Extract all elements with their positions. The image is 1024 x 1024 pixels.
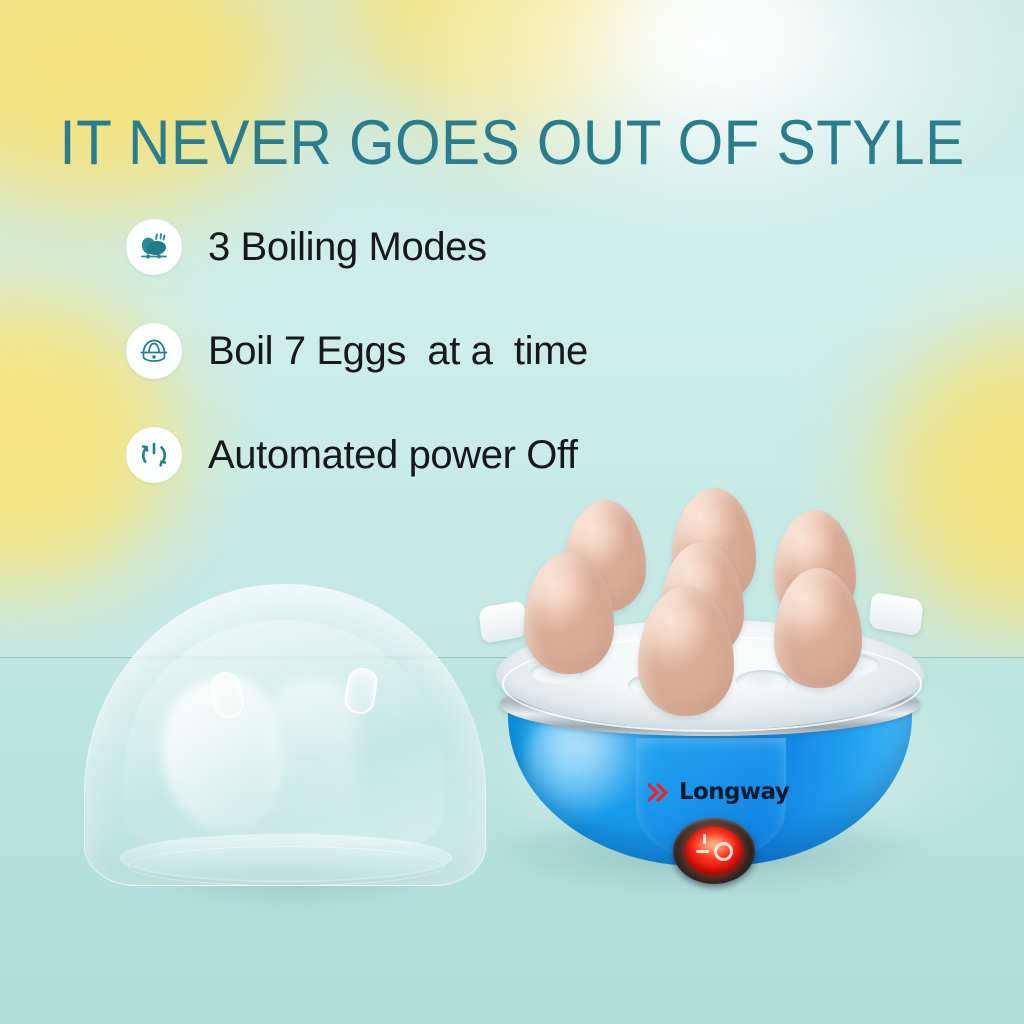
- egg-socket: [736, 670, 790, 692]
- feature-item-egg-capacity: Boil 7 Eggs at a time: [126, 316, 588, 386]
- feature-label: Automated power Off: [208, 433, 578, 478]
- page-title: IT NEVER GOES OUT OF STYLE: [36, 112, 988, 175]
- switch-i-mark: [703, 834, 706, 844]
- product-marketing-banner: IT NEVER GOES OUT OF STYLE 3 Boil: [0, 0, 1024, 1024]
- tray-tab-left: [478, 600, 527, 644]
- tray-tab-right: [868, 592, 923, 637]
- steaming-eggs-icon: [126, 219, 182, 275]
- lid-rim-inner: [128, 846, 444, 886]
- feature-label: Boil 7 Eggs at a time: [208, 329, 588, 374]
- brand-logo: Longway: [648, 779, 789, 805]
- logo-chevron-icon: [648, 783, 672, 802]
- brand-name: Longway: [679, 779, 789, 805]
- egg-boiler-icon: [126, 323, 182, 379]
- transparent-dome-lid: [84, 584, 484, 904]
- feature-list: 3 Boiling Modes Boil 7 Eggs at a time: [126, 212, 588, 524]
- feature-label: 3 Boiling Modes: [208, 225, 487, 270]
- power-switch[interactable]: [673, 818, 755, 884]
- feature-item-boiling-modes: 3 Boiling Modes: [126, 212, 588, 282]
- auto-power-off-icon: [126, 427, 182, 483]
- switch-io-marking-icon: [685, 827, 743, 875]
- feature-item-auto-power-off: Automated power Off: [126, 420, 588, 490]
